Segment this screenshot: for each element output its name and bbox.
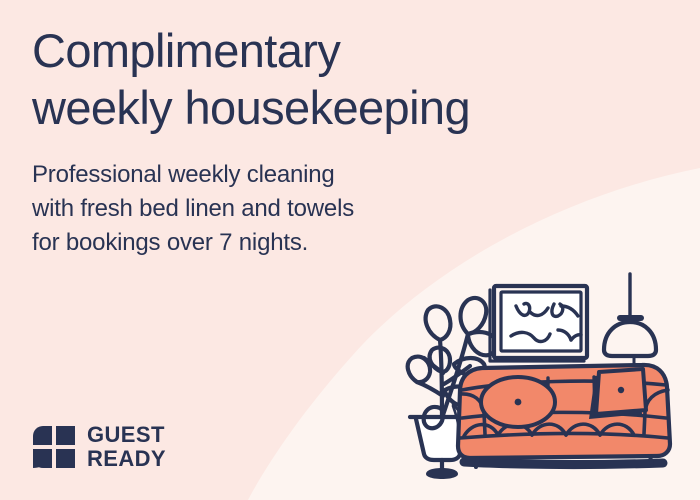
round-cushion-icon [481, 377, 555, 427]
promo-banner: Complimentary weekly housekeeping Profes… [0, 0, 700, 500]
headline: Complimentary weekly housekeeping [32, 22, 612, 136]
pendant-lamp-icon [604, 274, 656, 378]
living-room-illustration [398, 268, 698, 500]
guest-ready-quadrant-mark-icon [32, 425, 76, 469]
subcopy: Professional weekly cleaning with fresh … [32, 158, 612, 260]
copy-block: Complimentary weekly housekeeping Profes… [32, 22, 612, 260]
brand-logo: GUEST READY [32, 424, 166, 470]
logo-word-bottom: READY [87, 448, 166, 470]
framed-artwork-icon [490, 286, 587, 361]
square-cushion-icon [589, 369, 646, 419]
logo-wordmark: GUEST READY [87, 424, 166, 470]
logo-word-top: GUEST [87, 424, 166, 446]
sofa-icon [458, 365, 670, 467]
